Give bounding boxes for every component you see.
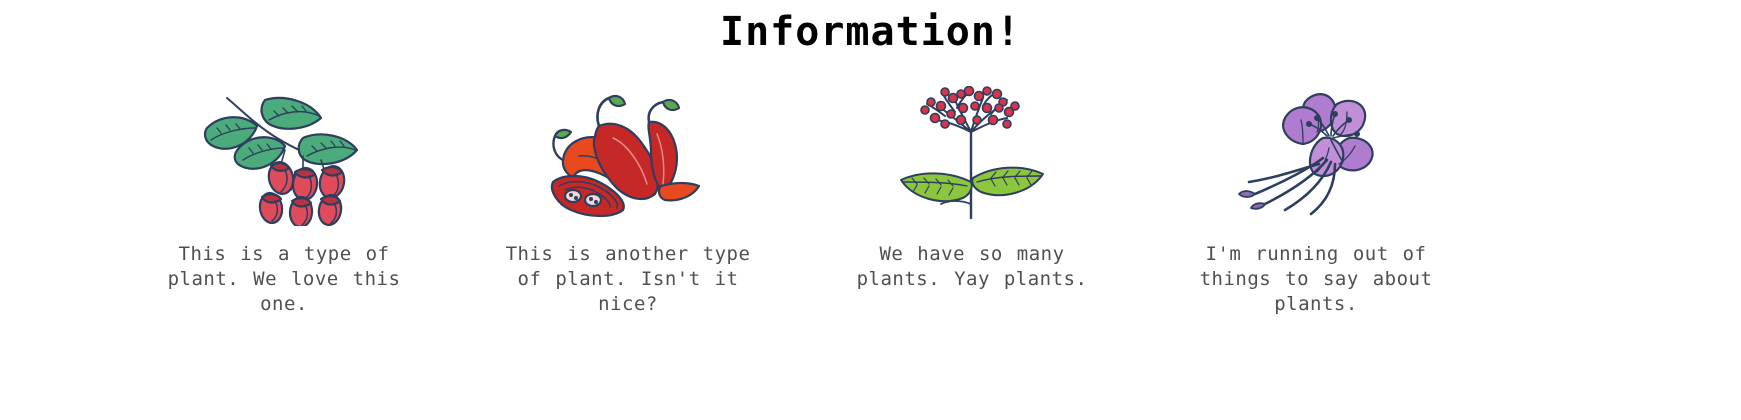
plant-card: We have so many plants. Yay plants. — [800, 86, 1144, 292]
purple-flower-icon — [1231, 86, 1401, 226]
card-caption: We have so many plants. Yay plants. — [822, 242, 1122, 292]
card-caption: This is a type of plant. We love this on… — [134, 242, 434, 317]
plant-card: I'm running out of things to say about p… — [1144, 86, 1488, 317]
berry-cluster-icon — [887, 86, 1057, 226]
plant-cards-row: This is a type of plant. We love this on… — [0, 86, 1741, 317]
chili-peppers-icon — [543, 86, 713, 226]
page-title: Information! — [0, 0, 1741, 64]
plant-card: This is a type of plant. We love this on… — [112, 86, 456, 317]
information-page: Information! — [0, 0, 1741, 420]
card-caption: I'm running out of things to say about p… — [1166, 242, 1466, 317]
card-caption: This is another type of plant. Isn't it … — [478, 242, 778, 317]
berry-branch-icon — [199, 86, 369, 226]
plant-card: This is another type of plant. Isn't it … — [456, 86, 800, 317]
